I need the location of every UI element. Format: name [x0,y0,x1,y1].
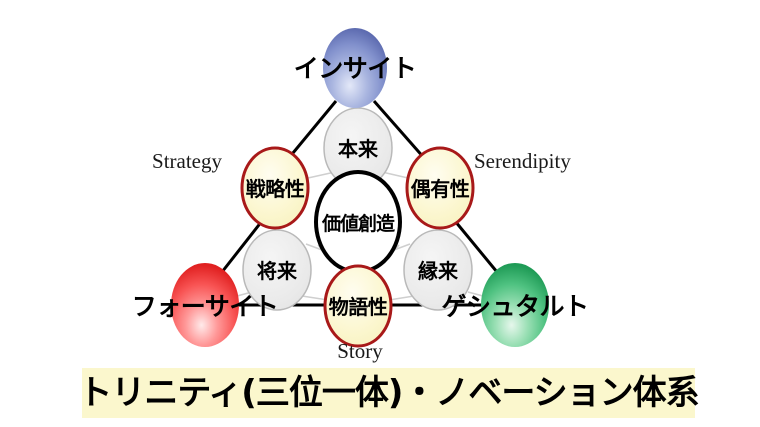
insight-label: インサイト [294,54,417,83]
foresight-label: フォーサイト [132,292,279,321]
corner-node-insight[interactable]: インサイト [294,28,417,108]
story-english-label: Story [337,339,383,363]
serendipity-label: 偶有性 [411,177,470,201]
title-banner: トリニティ(三位一体)・ノベーション体系 [82,368,695,418]
link-honrai-serendipity [382,172,408,178]
edge-node-strategy[interactable]: 戦略性 [242,148,308,228]
diagram-canvas: 本来 将来 縁来 価値創造 戦略性 偶有性 [0,0,760,427]
shorai-label: 将来 [257,259,298,283]
strategy-english-label: Strategy [152,149,222,173]
enrai-label: 縁来 [418,259,459,283]
trinity-triangle-diagram: 本来 将来 縁来 価値創造 戦略性 偶有性 [0,0,760,427]
banner-title-text: トリニティ(三位一体)・ノベーション体系 [78,376,698,410]
strategy-label: 戦略性 [246,177,305,201]
honrai-label: 本来 [338,137,379,161]
story-label: 物語性 [329,295,388,319]
value-creation-label: 価値創造 [321,212,396,235]
gestalt-label: ゲシュタルト [441,292,588,321]
serendipity-english-label: Serendipity [474,149,571,173]
center-node-value-creation[interactable]: 価値創造 [316,172,400,272]
link-enrai-story [389,296,414,300]
edge-node-serendipity[interactable]: 偶有性 [407,148,473,228]
edge-node-story[interactable]: 物語性 [325,266,391,346]
